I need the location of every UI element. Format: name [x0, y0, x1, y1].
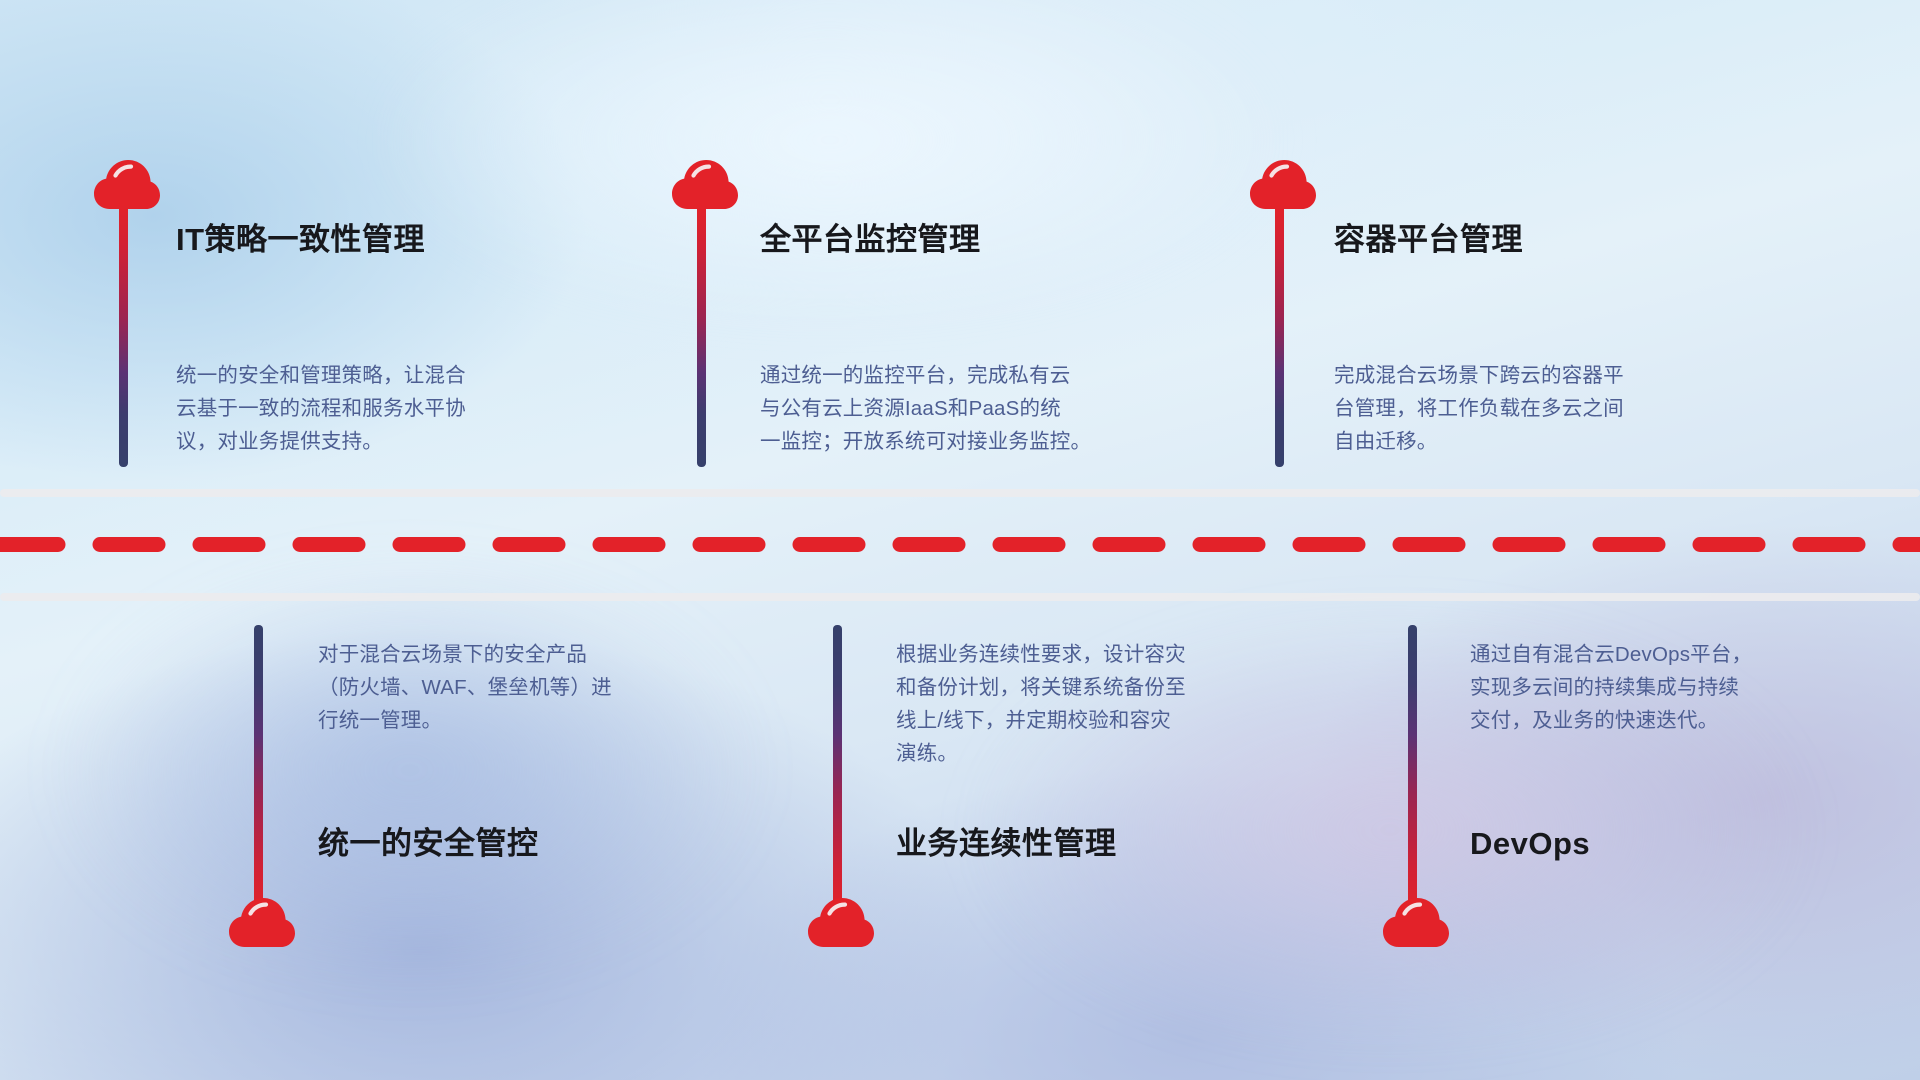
cloud-icon: [1383, 898, 1449, 948]
connector-stem: [1408, 625, 1417, 915]
item-title: DevOps: [1470, 828, 1590, 859]
cloud-icon: [94, 160, 160, 210]
item-title: IT策略一致性管理: [176, 224, 425, 255]
cloud-icon: [808, 898, 874, 948]
background-glow-top: [380, 0, 1280, 320]
item-title: 统一的安全管控: [318, 828, 539, 859]
connector-stem: [833, 625, 842, 915]
item-description: 通过自有混合云DevOps平台， 实现多云间的持续集成与持续 交付，及业务的快速…: [1470, 638, 1900, 737]
item-title: 容器平台管理: [1334, 224, 1523, 255]
connector-stem: [254, 625, 263, 915]
connector-stem: [1275, 205, 1284, 467]
connector-stem: [119, 205, 128, 467]
item-description: 通过统一的监控平台，完成私有云 与公有云上资源IaaS和PaaS的统 一监控；开…: [760, 359, 1215, 458]
background-glow-left: [60, 560, 760, 980]
divider-bar-bottom: [0, 593, 1920, 601]
item-description: 根据业务连续性要求，设计容灾 和备份计划，将关键系统备份至 线上/线下，并定期校…: [896, 638, 1326, 770]
cloud-icon: [1250, 160, 1316, 210]
item-description: 完成混合云场景下跨云的容器平 台管理，将工作负载在多云之间 自由迁移。: [1334, 359, 1779, 458]
cloud-icon: [229, 898, 295, 948]
divider-bar-top: [0, 489, 1920, 497]
connector-stem: [697, 205, 706, 467]
cloud-icon: [672, 160, 738, 210]
dashed-red-line: [0, 535, 1920, 554]
infographic-canvas: IT策略一致性管理 统一的安全和管理策略，让混合 云基于一致的流程和服务水平协 …: [0, 0, 1920, 1080]
item-title: 业务连续性管理: [896, 828, 1117, 859]
section-divider: [0, 489, 1920, 601]
item-description: 统一的安全和管理策略，让混合 云基于一致的流程和服务水平协 议，对业务提供支持。: [176, 359, 616, 458]
item-title: 全平台监控管理: [760, 224, 981, 255]
item-description: 对于混合云场景下的安全产品 （防火墙、WAF、堡垒机等）进 行统一管理。: [318, 638, 748, 737]
